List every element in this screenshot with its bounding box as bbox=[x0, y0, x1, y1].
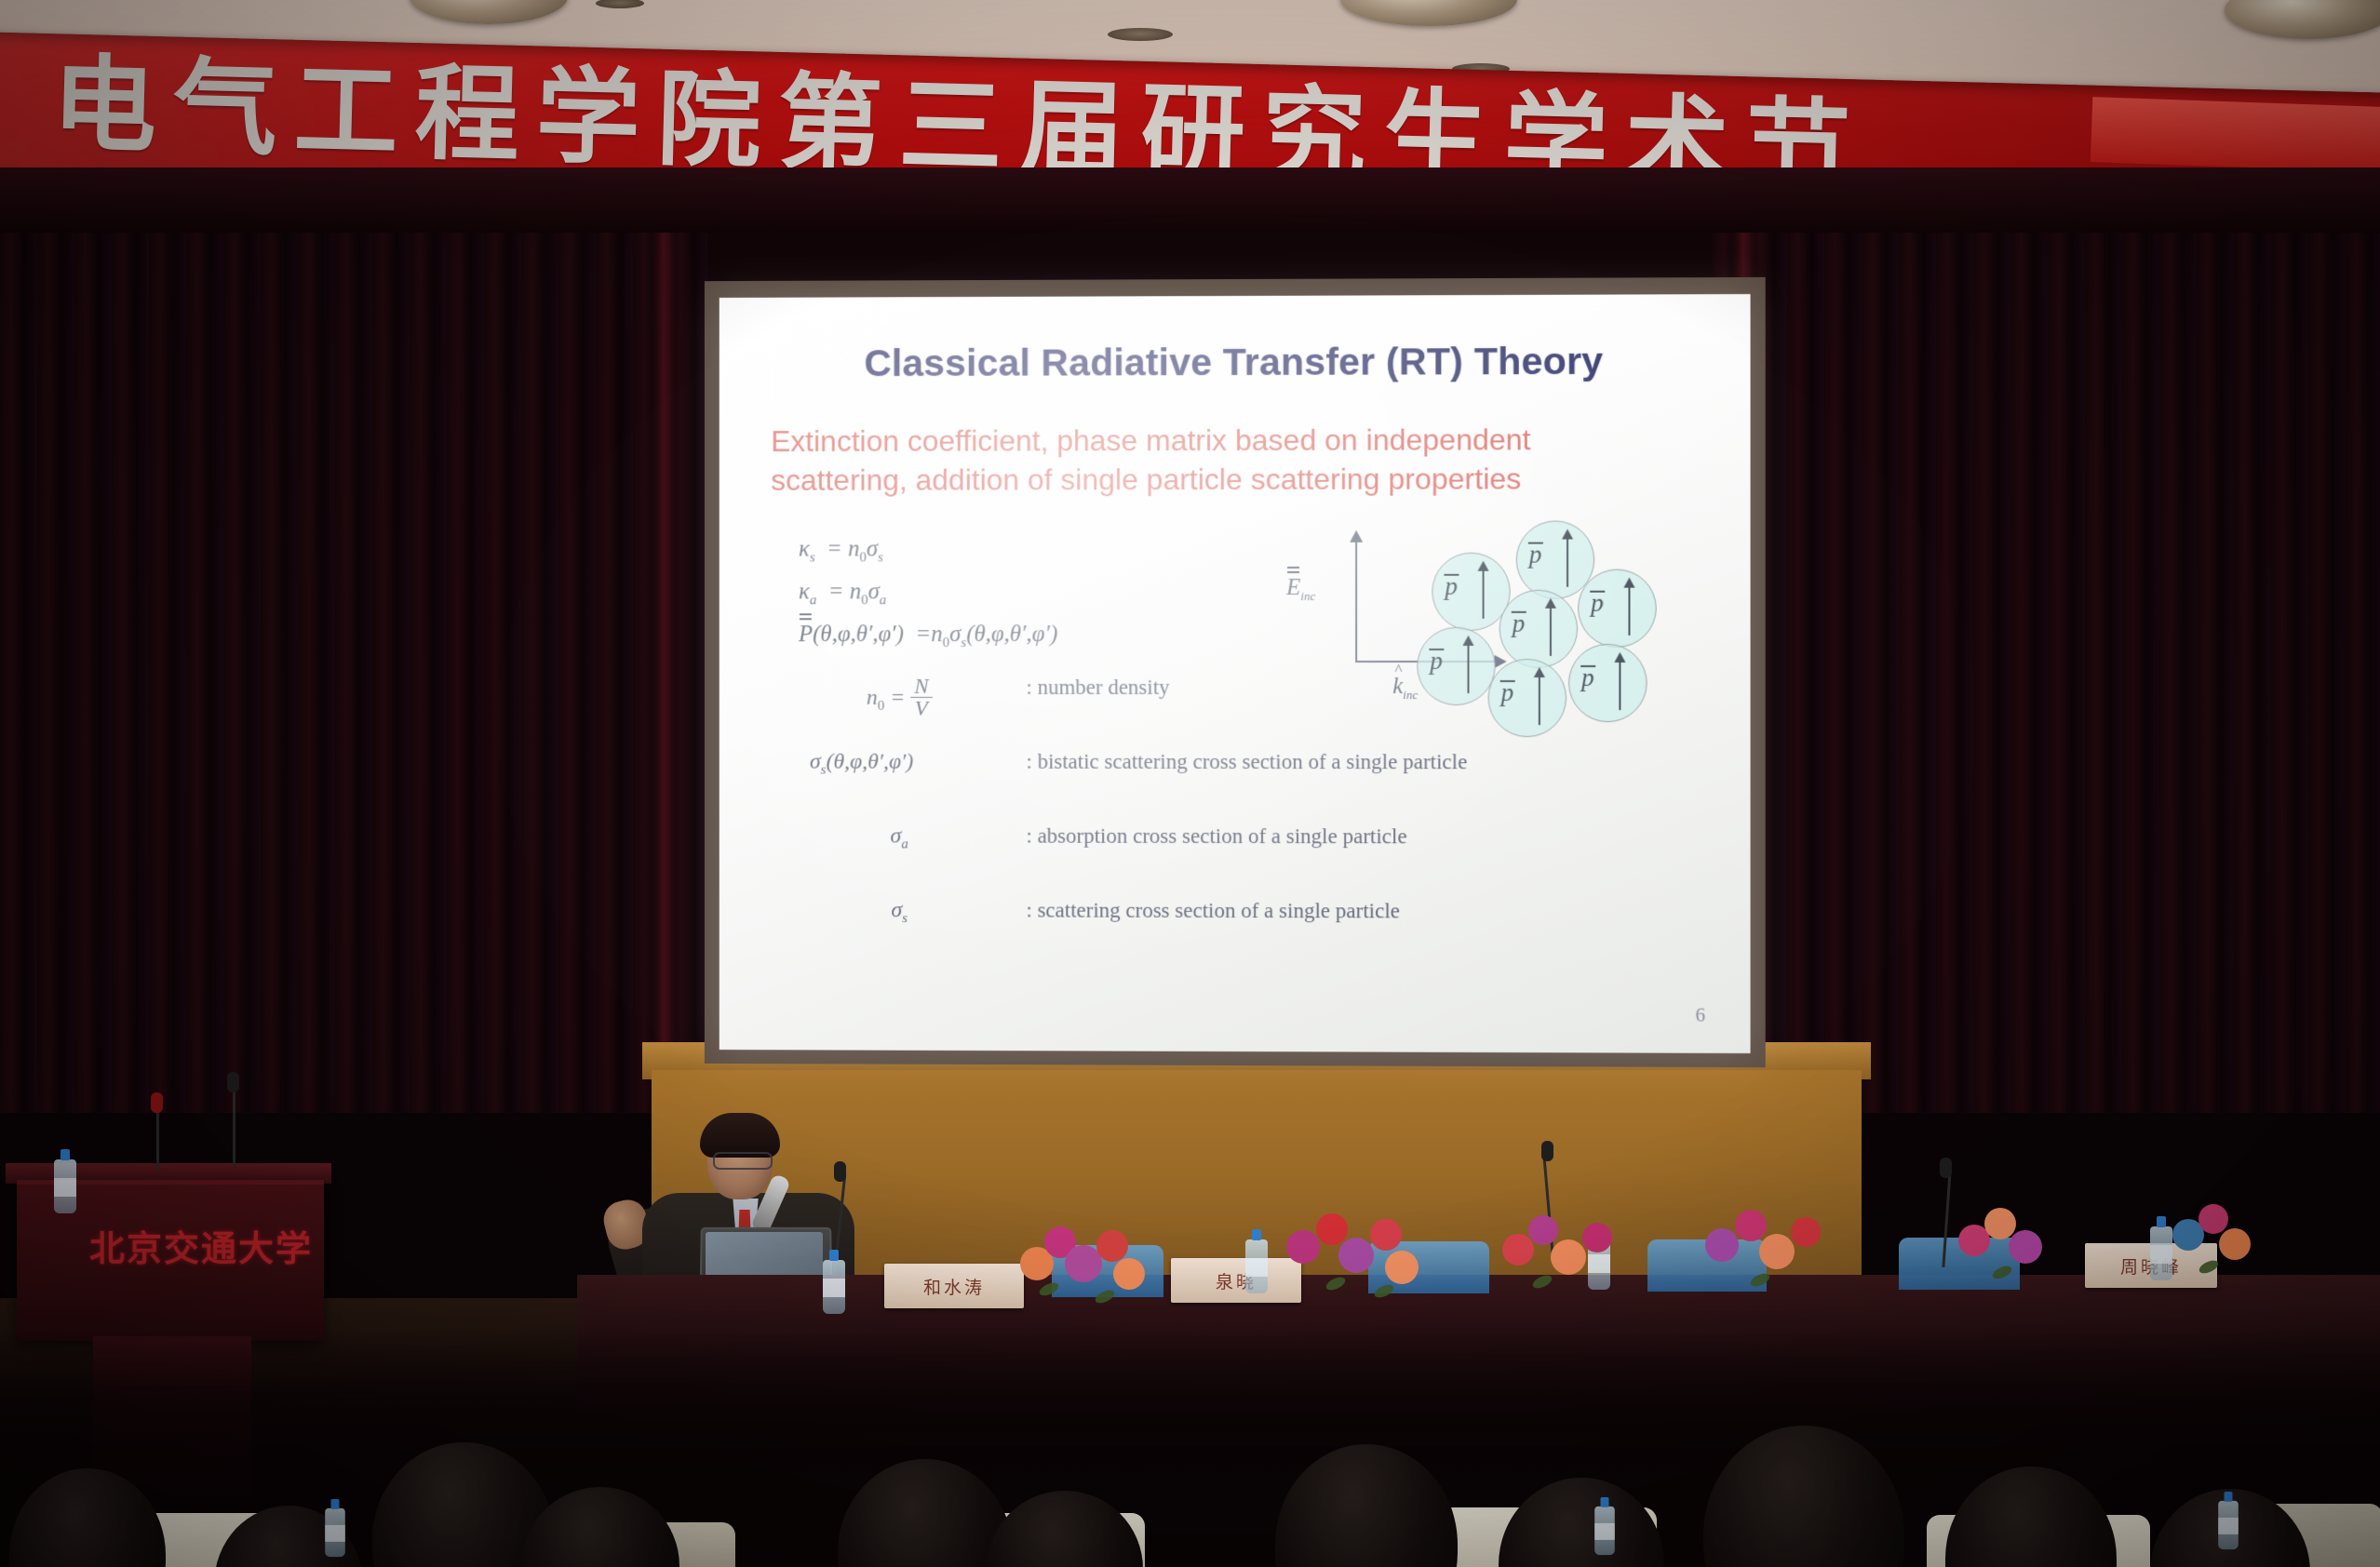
particle: p bbox=[1417, 627, 1495, 705]
water-bottle bbox=[54, 1159, 76, 1213]
flower bbox=[1113, 1258, 1145, 1290]
bottle-label bbox=[823, 1279, 845, 1297]
sigma-a-subscript: a bbox=[880, 593, 886, 608]
definition-text: : bistatic scattering cross section of a… bbox=[1026, 750, 1467, 774]
n0-symbol: n bbox=[931, 622, 942, 647]
audience-head bbox=[1703, 1426, 1904, 1567]
particle: p bbox=[1578, 569, 1657, 648]
flower bbox=[1759, 1234, 1795, 1269]
k-subscript: inc bbox=[1403, 688, 1418, 702]
audience-head bbox=[987, 1491, 1143, 1567]
flower bbox=[1791, 1217, 1821, 1247]
definition-text: : scattering cross section of a single p… bbox=[1026, 899, 1399, 924]
leaf bbox=[1038, 1280, 1061, 1298]
n0-subscript: 0 bbox=[861, 593, 867, 608]
sigma-subscript: a bbox=[901, 837, 908, 851]
kappa-s-subscript: s bbox=[810, 551, 815, 566]
curtain-valance bbox=[0, 167, 2380, 233]
slide-subtitle: Extinction coefficient, phase matrix bas… bbox=[771, 420, 1709, 500]
curtain-right bbox=[1713, 173, 2380, 1113]
flower bbox=[1582, 1223, 1612, 1252]
equation-phase-matrix: P(θ,φ,θ′,φ′) =n0σs(θ,φ,θ′,φ′) bbox=[799, 622, 1318, 679]
equals-sign: = bbox=[890, 686, 905, 710]
leaf bbox=[1324, 1275, 1348, 1292]
n0-symbol: n bbox=[850, 579, 861, 604]
flower bbox=[2198, 1204, 2228, 1234]
flower-bouquet bbox=[1284, 1210, 1424, 1310]
particle-dipole-label: p bbox=[1591, 589, 1604, 618]
bottle-label bbox=[325, 1525, 345, 1542]
water-bottle bbox=[823, 1260, 845, 1314]
flower bbox=[1528, 1215, 1558, 1245]
particle-scattering-diagram: Einc kinc p p p p p bbox=[1275, 518, 1714, 752]
dipole-arrow bbox=[1539, 669, 1540, 725]
flower bbox=[1385, 1251, 1419, 1284]
curtain-left bbox=[0, 173, 707, 1113]
leaf bbox=[1094, 1288, 1117, 1306]
dipole-arrow bbox=[1483, 563, 1485, 619]
flower bbox=[2009, 1230, 2042, 1264]
flower bbox=[1984, 1208, 2016, 1239]
definition-text: : number density bbox=[1026, 676, 1169, 700]
slide-subtitle-line1: Extinction coefficient, phase matrix bas… bbox=[771, 420, 1709, 461]
sigma-subscript: s bbox=[902, 911, 908, 926]
particle: p bbox=[1432, 553, 1510, 631]
sigma-a-symbol: σ bbox=[868, 579, 880, 604]
particle-dipole-label: p bbox=[1430, 647, 1443, 676]
water-bottle bbox=[1594, 1507, 1615, 1555]
flower bbox=[1316, 1213, 1348, 1245]
phase-matrix-rhs-args: (θ,φ,θ′,φ′) bbox=[966, 622, 1057, 647]
axis-label-e-inc: Einc bbox=[1286, 575, 1315, 604]
audience-head bbox=[1275, 1444, 1458, 1567]
dipole-arrow bbox=[1619, 654, 1620, 710]
dipole-arrow bbox=[1550, 600, 1552, 656]
flower-bouquet bbox=[1499, 1210, 1638, 1310]
name-card: 和水涛 bbox=[884, 1264, 1024, 1308]
slide-title: Classical Radiative Transfer (RT) Theory bbox=[719, 339, 1751, 385]
podium-mic-stand bbox=[233, 1089, 235, 1169]
name-card: 泉晓 bbox=[1171, 1258, 1301, 1303]
fraction-n-over-v: N V bbox=[910, 676, 932, 720]
water-bottle bbox=[325, 1508, 345, 1557]
definition-text: : absorption cross section of a single p… bbox=[1026, 824, 1406, 850]
flower bbox=[1370, 1219, 1402, 1251]
water-bottle bbox=[1245, 1239, 1268, 1293]
dipole-arrow bbox=[1468, 637, 1470, 693]
bottle-label bbox=[1245, 1258, 1268, 1277]
presentation-slide: Classical Radiative Transfer (RT) Theory… bbox=[719, 294, 1751, 1053]
podium-sign: 北京交通大学 bbox=[89, 1225, 303, 1273]
definition-row: σa : absorption cross section of a singl… bbox=[793, 824, 1687, 900]
particle-dipole-label: p bbox=[1501, 678, 1514, 707]
audience-head bbox=[838, 1459, 1013, 1567]
slide-number: 6 bbox=[1696, 1004, 1706, 1027]
definition-symbol-sigma-s: σs bbox=[793, 898, 1006, 927]
flower bbox=[1735, 1210, 1767, 1241]
flower bbox=[2219, 1228, 2251, 1260]
particle-dipole-label: p bbox=[1513, 609, 1526, 638]
sigma-symbol: σ bbox=[891, 898, 902, 922]
equation-kappa-s: κs = n0σs bbox=[799, 536, 1318, 580]
definition-symbol-sigma-s-args: σs(θ,φ,θ′,φ′) bbox=[810, 750, 1023, 779]
particle-dipole-label: p bbox=[1445, 572, 1458, 601]
podium-mic-head bbox=[227, 1072, 239, 1092]
sigma-symbol: σ bbox=[949, 622, 961, 647]
podium-mic-head bbox=[151, 1092, 163, 1113]
flower bbox=[1551, 1239, 1586, 1275]
bottle-label bbox=[54, 1178, 76, 1197]
sigma-symbol: σ bbox=[891, 824, 902, 848]
n-subscript: 0 bbox=[878, 699, 884, 714]
flower bbox=[1096, 1230, 1128, 1262]
flower-bouquet bbox=[1703, 1206, 1843, 1306]
sigma-s-subscript: s bbox=[878, 550, 883, 565]
sigma-args: (θ,φ,θ′,φ′) bbox=[826, 750, 913, 774]
leaf bbox=[1373, 1282, 1396, 1300]
table-mic-head bbox=[1940, 1158, 1952, 1178]
axis-label-k-inc: kinc bbox=[1392, 674, 1418, 703]
equation-block: κs = n0σs κa = n0σa P(θ,φ,θ′,φ′) =n0σs(θ… bbox=[799, 536, 1318, 679]
dipole-arrow bbox=[1566, 531, 1568, 587]
flower bbox=[1286, 1230, 1320, 1264]
audience-head bbox=[1499, 1478, 1664, 1567]
leaf bbox=[2198, 1258, 2221, 1276]
kappa-a-symbol: κ bbox=[799, 579, 810, 604]
projection-screen: Classical Radiative Transfer (RT) Theory… bbox=[719, 294, 1751, 1053]
particle-dipole-label: p bbox=[1581, 663, 1594, 692]
n-symbol: n bbox=[867, 686, 878, 710]
sigma-symbol: σ bbox=[810, 750, 821, 774]
dipole-arrow bbox=[1628, 580, 1630, 636]
flower-bouquet bbox=[1016, 1219, 1156, 1319]
flower bbox=[1705, 1228, 1739, 1262]
k-symbol: k bbox=[1392, 674, 1403, 700]
equation-kappa-a: κa = n0σa bbox=[799, 579, 1318, 622]
flower-bouquet bbox=[1955, 1202, 2094, 1303]
water-bottle bbox=[2218, 1501, 2239, 1549]
definition-symbol-sigma-a: σa bbox=[793, 824, 1006, 852]
kappa-s-symbol: κ bbox=[799, 537, 810, 562]
flower bbox=[1338, 1238, 1374, 1273]
bottle-label bbox=[1594, 1523, 1615, 1540]
flower bbox=[1502, 1234, 1534, 1266]
n0-symbol: n bbox=[848, 537, 859, 562]
podium-mic-stand bbox=[156, 1107, 159, 1171]
audience-head bbox=[1945, 1467, 2117, 1567]
leaf bbox=[1991, 1264, 2014, 1281]
speaker-glasses bbox=[713, 1152, 773, 1170]
flower-bouquet bbox=[2169, 1199, 2308, 1299]
table-mic-head bbox=[834, 1161, 846, 1182]
phase-matrix-args: (θ,φ,θ′,φ′) bbox=[813, 622, 904, 647]
audience-foreground bbox=[0, 1331, 2380, 1567]
definition-row: σs(θ,φ,θ′,φ′) : bistatic scattering cros… bbox=[793, 750, 1687, 825]
particle: p bbox=[1488, 659, 1566, 737]
leaf bbox=[1749, 1271, 1772, 1289]
fraction-denominator: V bbox=[910, 698, 932, 719]
table-mic-head bbox=[1541, 1141, 1553, 1161]
curtain-edge-left bbox=[652, 173, 676, 1113]
equals-sign: = bbox=[915, 622, 931, 647]
slide-subtitle-line2: scattering, addition of single particle … bbox=[771, 459, 1709, 500]
particle: p bbox=[1499, 590, 1578, 668]
audience-head bbox=[9, 1468, 166, 1567]
definition-symbol-n0: n0 = N V bbox=[793, 676, 1006, 720]
particle: p bbox=[1568, 644, 1647, 722]
sigma-s-symbol: σ bbox=[867, 536, 878, 561]
phase-matrix-symbol: P bbox=[799, 622, 813, 648]
banner-fold bbox=[2091, 97, 2380, 173]
e-subscript: inc bbox=[1300, 589, 1315, 603]
particle-dipole-label: p bbox=[1529, 541, 1542, 569]
fraction-numerator: N bbox=[910, 676, 932, 698]
lecture-hall-photo: 电气工程学院第三届研究生学术节 Classical Radiative Tran… bbox=[0, 0, 2380, 1567]
speaker-hair bbox=[700, 1113, 780, 1158]
bottle-label bbox=[2218, 1518, 2239, 1534]
definition-row: σs : scattering cross section of a singl… bbox=[793, 898, 1687, 974]
kappa-a-subscript: a bbox=[810, 593, 816, 608]
incident-field-axis bbox=[1355, 532, 1357, 663]
leaf bbox=[1531, 1273, 1554, 1291]
e-symbol: E bbox=[1286, 575, 1300, 601]
ceiling-vent bbox=[1108, 28, 1173, 41]
